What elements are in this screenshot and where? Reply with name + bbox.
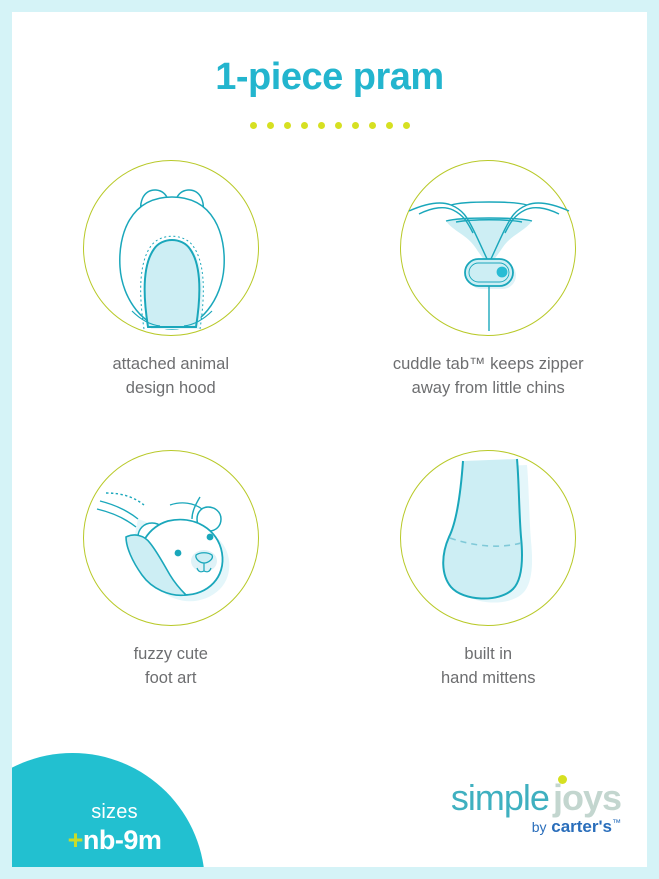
hood-with-animal-ears-icon xyxy=(83,160,259,336)
logo-joys-text: joys xyxy=(553,777,621,818)
feature-item-foot-art: fuzzy cute foot art xyxy=(12,450,330,740)
title-divider-dots xyxy=(12,122,647,129)
divider-dot xyxy=(250,122,257,129)
bear-face-foot-icon xyxy=(83,450,259,626)
logo-j-dot-icon xyxy=(558,775,567,784)
logo-brand-label: carter's xyxy=(551,817,612,836)
logo-simple-text: simple xyxy=(451,777,549,818)
feature-caption: attached animal design hood xyxy=(113,353,230,401)
collar-with-cuddle-tab-icon xyxy=(400,160,576,336)
feature-grid: attached animal design hood xyxy=(12,160,647,740)
feature-caption: built in hand mittens xyxy=(441,643,535,691)
hand-mitten-icon xyxy=(400,450,576,626)
divider-dot xyxy=(386,122,393,129)
logo-trademark: ™ xyxy=(612,817,621,827)
page-title: 1-piece pram xyxy=(12,58,647,96)
divider-dot xyxy=(335,122,342,129)
product-feature-card: 1-piece pram xyxy=(0,0,659,879)
divider-dot xyxy=(403,122,410,129)
feature-item-mittens: built in hand mittens xyxy=(330,450,648,740)
logo-byline: by carter's™ xyxy=(451,818,621,835)
feature-caption: fuzzy cute foot art xyxy=(134,643,208,691)
divider-dot xyxy=(267,122,274,129)
logo-wordmark: simplejoys xyxy=(451,780,621,816)
divider-dot xyxy=(352,122,359,129)
divider-dot xyxy=(284,122,291,129)
logo-by-label: by xyxy=(532,819,547,835)
size-badge xyxy=(12,753,205,867)
divider-dot xyxy=(318,122,325,129)
card-inner: 1-piece pram xyxy=(12,12,647,867)
feature-item-cuddle-tab: cuddle tab™ keeps zipper away from littl… xyxy=(330,160,648,450)
divider-dot xyxy=(301,122,308,129)
feature-item-hood: attached animal design hood xyxy=(12,160,330,450)
divider-dot xyxy=(369,122,376,129)
brand-logo: simplejoys by carter's™ xyxy=(451,780,621,835)
feature-caption: cuddle tab™ keeps zipper away from littl… xyxy=(393,353,584,401)
